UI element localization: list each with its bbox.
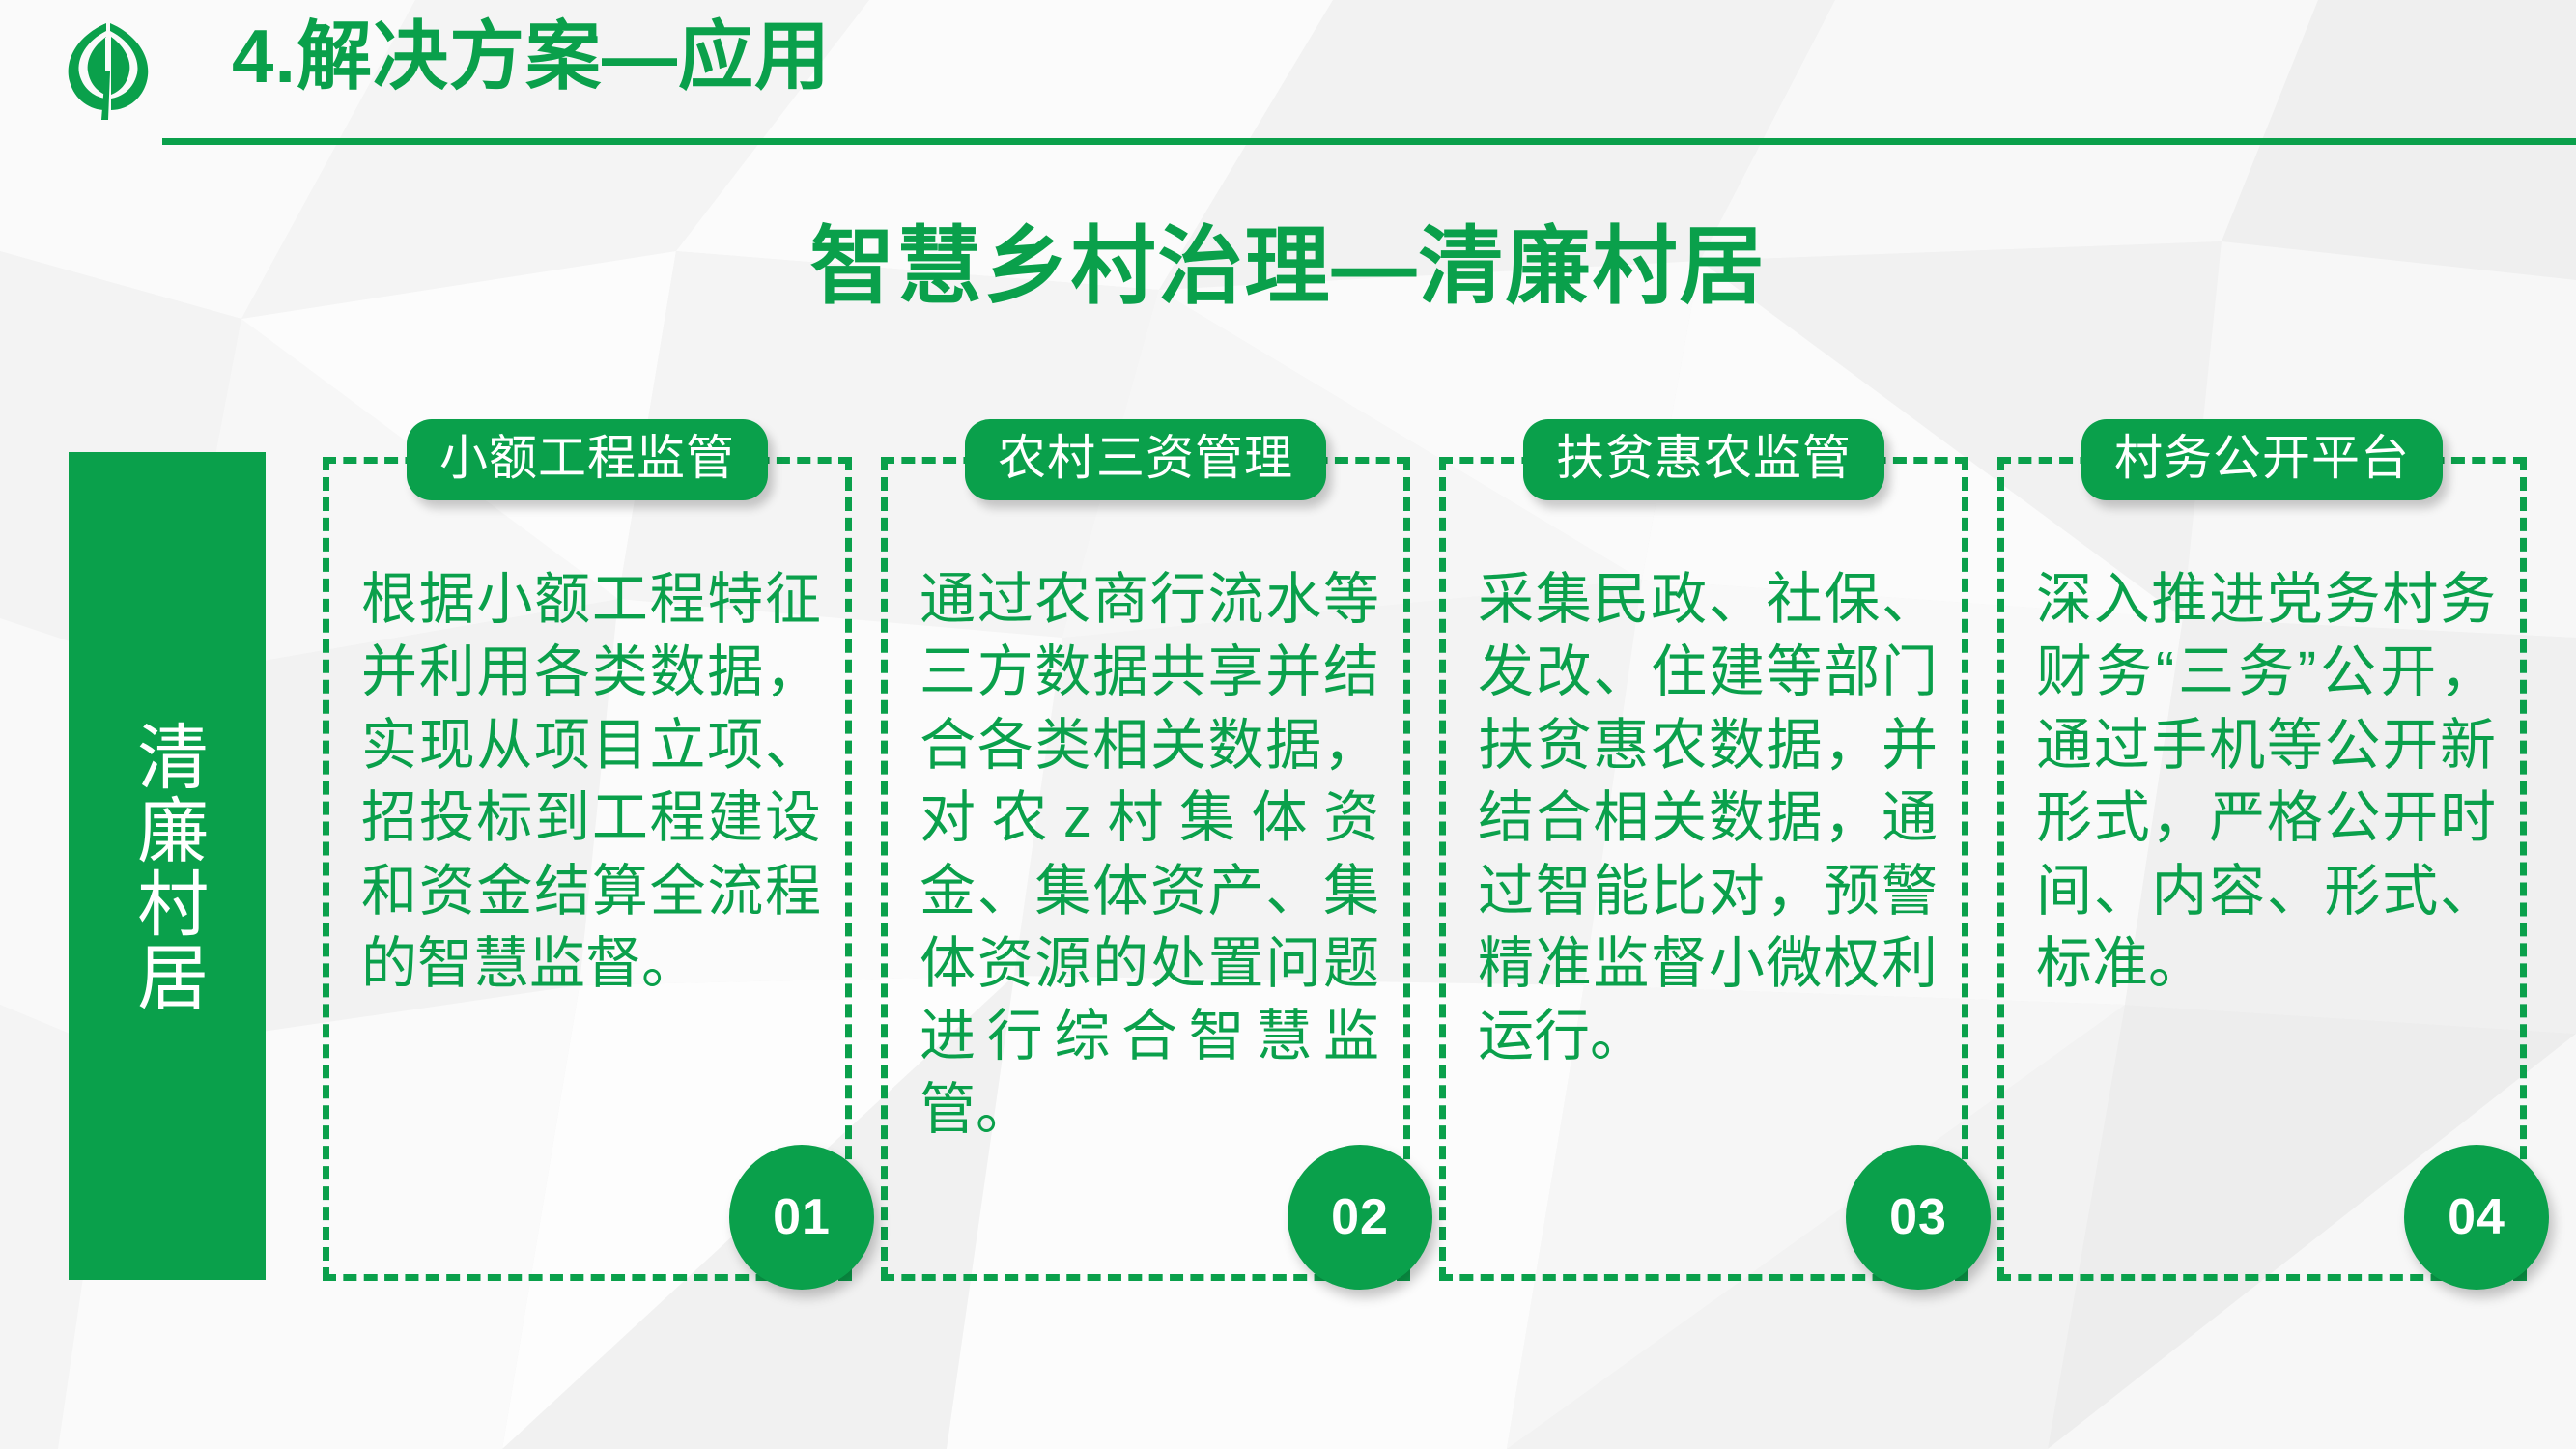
card-number-badge-2: 02 <box>1288 1145 1432 1290</box>
card-number-badge-3: 03 <box>1846 1145 1991 1290</box>
card-body-text: 深入推进党务村务财务“三务”公开，通过手机等公开新形式，严格公开时间、内容、形式… <box>2036 563 2496 1000</box>
card-title-pill: 农村三资管理 <box>965 419 1326 500</box>
card-number-badge-1: 01 <box>729 1145 874 1290</box>
card-number-badge-4: 04 <box>2404 1145 2549 1290</box>
main-heading: 智慧乡村治理—清廉村居 <box>0 198 2576 321</box>
title-divider <box>162 138 2576 145</box>
left-category-bar: 清廉村居 <box>69 452 266 1280</box>
left-category-label: 清廉村居 <box>125 720 209 1013</box>
card-title-pill: 小额工程监管 <box>407 419 768 500</box>
slide-canvas: 4.解决方案—应用 智慧乡村治理—清廉村居 清廉村居 小额工程监管 根据小额工程… <box>0 0 2576 1449</box>
card-body-text: 根据小额工程特征并利用各类数据，实现从项目立项、招投标到工程建设和资金结算全流程… <box>361 563 821 1000</box>
slide-header: 4.解决方案—应用 <box>0 0 2576 164</box>
card-title-pill: 村务公开平台 <box>2081 419 2443 500</box>
card-body-text: 通过农商行流水等三方数据共享并结合各类相关数据，对农z村集体资金、集体资产、集体… <box>920 563 1379 1146</box>
leaf-icon <box>50 14 166 122</box>
card-title-pill: 扶贫惠农监管 <box>1523 419 1884 500</box>
page-title: 4.解决方案—应用 <box>232 17 831 97</box>
card-body-text: 采集民政、社保、发改、住建等部门扶贫惠农数据，并结合相关数据，通过智能比对，预警… <box>1478 563 1938 1073</box>
